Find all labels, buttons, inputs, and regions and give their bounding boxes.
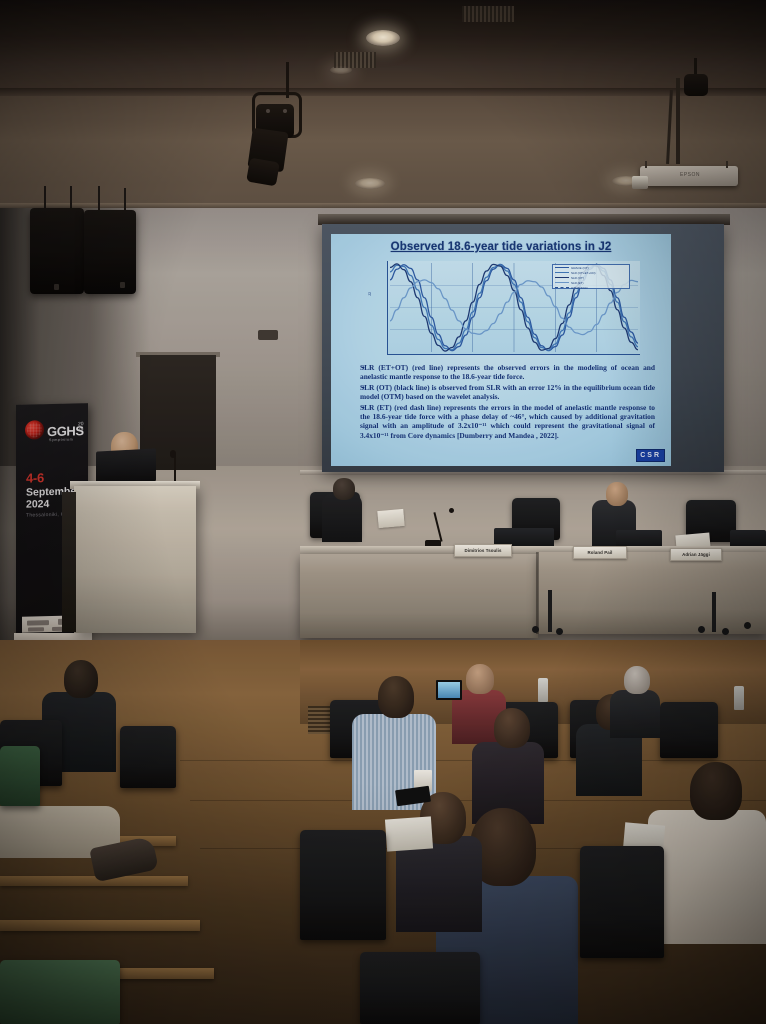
legend-swatch — [555, 272, 569, 273]
audience-torso — [648, 810, 766, 944]
slide-bullet: SLR (ET) (red dash line) represents the … — [360, 403, 655, 441]
legend-item: SLR (OT) — [555, 276, 627, 280]
chair-caster — [532, 626, 539, 633]
slide-title: Observed 18.6-year tide variations in J2 — [331, 241, 671, 253]
panel-table — [300, 554, 538, 638]
tablet-screen — [438, 682, 460, 698]
nameplate-text: Roland Pail — [587, 550, 612, 555]
podium — [74, 486, 196, 633]
nameplate-panelist-3: Adrian Jäggi — [670, 548, 722, 561]
audience-head — [378, 676, 414, 718]
podium-microphone-stem — [174, 456, 176, 484]
water-bottle — [538, 678, 548, 702]
ceiling-downlight — [366, 30, 400, 46]
panelist-left-papers — [377, 509, 404, 528]
legend-label: SLR (OT+ET+CD) — [571, 271, 596, 275]
sponsor-logo-icon — [27, 620, 49, 626]
ceiling-downlight — [355, 178, 385, 189]
slide-bullet: SLR (OT) (black line) is observed from S… — [360, 383, 655, 402]
chart-y-axis-label: J2 — [367, 292, 372, 296]
stair-step — [0, 920, 200, 931]
legend-label: GRACE (OT) — [571, 266, 589, 270]
legend-item: SLR (OT+ET+CD) — [555, 271, 627, 275]
tide-variation-chart: GRACE (OT) SLR (OT+ET+CD) SLR (OT) SLR (… — [387, 261, 640, 355]
projector-brand-label: EPSON — [680, 172, 700, 178]
panel-table — [538, 552, 766, 634]
table-microphone-head — [449, 508, 454, 513]
paper-sheet — [385, 816, 433, 851]
nameplate-panelist-1: Dimitrios Tsoulis — [454, 544, 512, 557]
panelist-left-head — [333, 478, 355, 500]
legend-swatch — [555, 267, 569, 268]
legend-swatch — [555, 282, 569, 283]
audience-seat[interactable] — [120, 726, 176, 788]
chart-legend: GRACE (OT) SLR (OT+ET+CD) SLR (OT) SLR (… — [552, 264, 630, 289]
ceiling-soffit — [0, 96, 766, 208]
audience-torso — [610, 690, 660, 738]
audience-head — [690, 762, 742, 820]
podium-laptop — [96, 448, 156, 484]
chair-leg — [712, 592, 716, 632]
chair-caster — [722, 628, 729, 635]
chair-caster — [744, 622, 751, 629]
globe-logo-icon — [25, 420, 44, 439]
nameplate-text: Dimitrios Tsoulis — [465, 548, 502, 553]
slide-bullet: SLR (ET+OT) (red line) represents the ob… — [360, 363, 655, 382]
podium-microphone-head — [170, 450, 176, 458]
legend-item: OTM/ET/CD — [555, 286, 627, 290]
audience-head — [624, 666, 650, 694]
presentation-slide: Observed 18.6-year tide variations in J2… — [331, 234, 671, 466]
legend-item: GRACE (OT) — [555, 266, 627, 270]
legend-item: SLR (ET) — [555, 281, 627, 285]
podium-side-panel — [62, 492, 76, 632]
banner-dates: 4-6 — [26, 470, 44, 485]
chair-caster — [698, 626, 705, 633]
audience-torso — [396, 836, 482, 932]
chair-leg — [548, 590, 552, 632]
audience-head — [64, 660, 98, 698]
csr-logo: CSR — [636, 449, 665, 462]
nameplate-text: Adrian Jäggi — [682, 552, 710, 557]
audience-seat[interactable] — [580, 846, 664, 958]
nameplate-panelist-2: Roland Pail — [573, 546, 627, 559]
legend-label: OTM/ET/CD — [571, 286, 588, 290]
chair-caster — [556, 628, 563, 635]
conference-hall-photo: EPSON Observed 18.6-year tide variations… — [0, 0, 766, 1024]
audience-seat[interactable] — [0, 960, 120, 1024]
ceiling-grille — [462, 6, 514, 22]
legend-label: SLR (OT) — [571, 276, 584, 280]
legend-swatch — [555, 287, 569, 288]
banner-year-bottom: 24 — [78, 427, 84, 432]
water-bottle — [734, 686, 744, 710]
audience-head — [494, 708, 530, 748]
banner-subtitle: Symposium — [49, 437, 73, 442]
ceiling — [0, 0, 766, 96]
audience-head — [466, 664, 494, 694]
audience-seat[interactable] — [360, 952, 480, 1024]
audience-seat[interactable] — [0, 746, 40, 806]
ceiling-grille — [334, 52, 376, 68]
legend-swatch — [555, 277, 569, 278]
slide-bullet-list: SLR (ET+OT) (red line) represents the ob… — [349, 363, 655, 441]
sponsor-logo-icon — [28, 627, 44, 631]
panelist-right-head — [606, 482, 628, 506]
audience-seat[interactable] — [660, 702, 718, 758]
audience-seat[interactable] — [300, 830, 386, 940]
banner-year-badge: 20 24 — [78, 422, 84, 431]
wall-sensor — [258, 330, 278, 340]
stair-step — [0, 876, 188, 886]
panelist-left-torso — [322, 494, 362, 542]
legend-label: SLR (ET) — [571, 281, 584, 285]
table-divider — [536, 552, 539, 634]
